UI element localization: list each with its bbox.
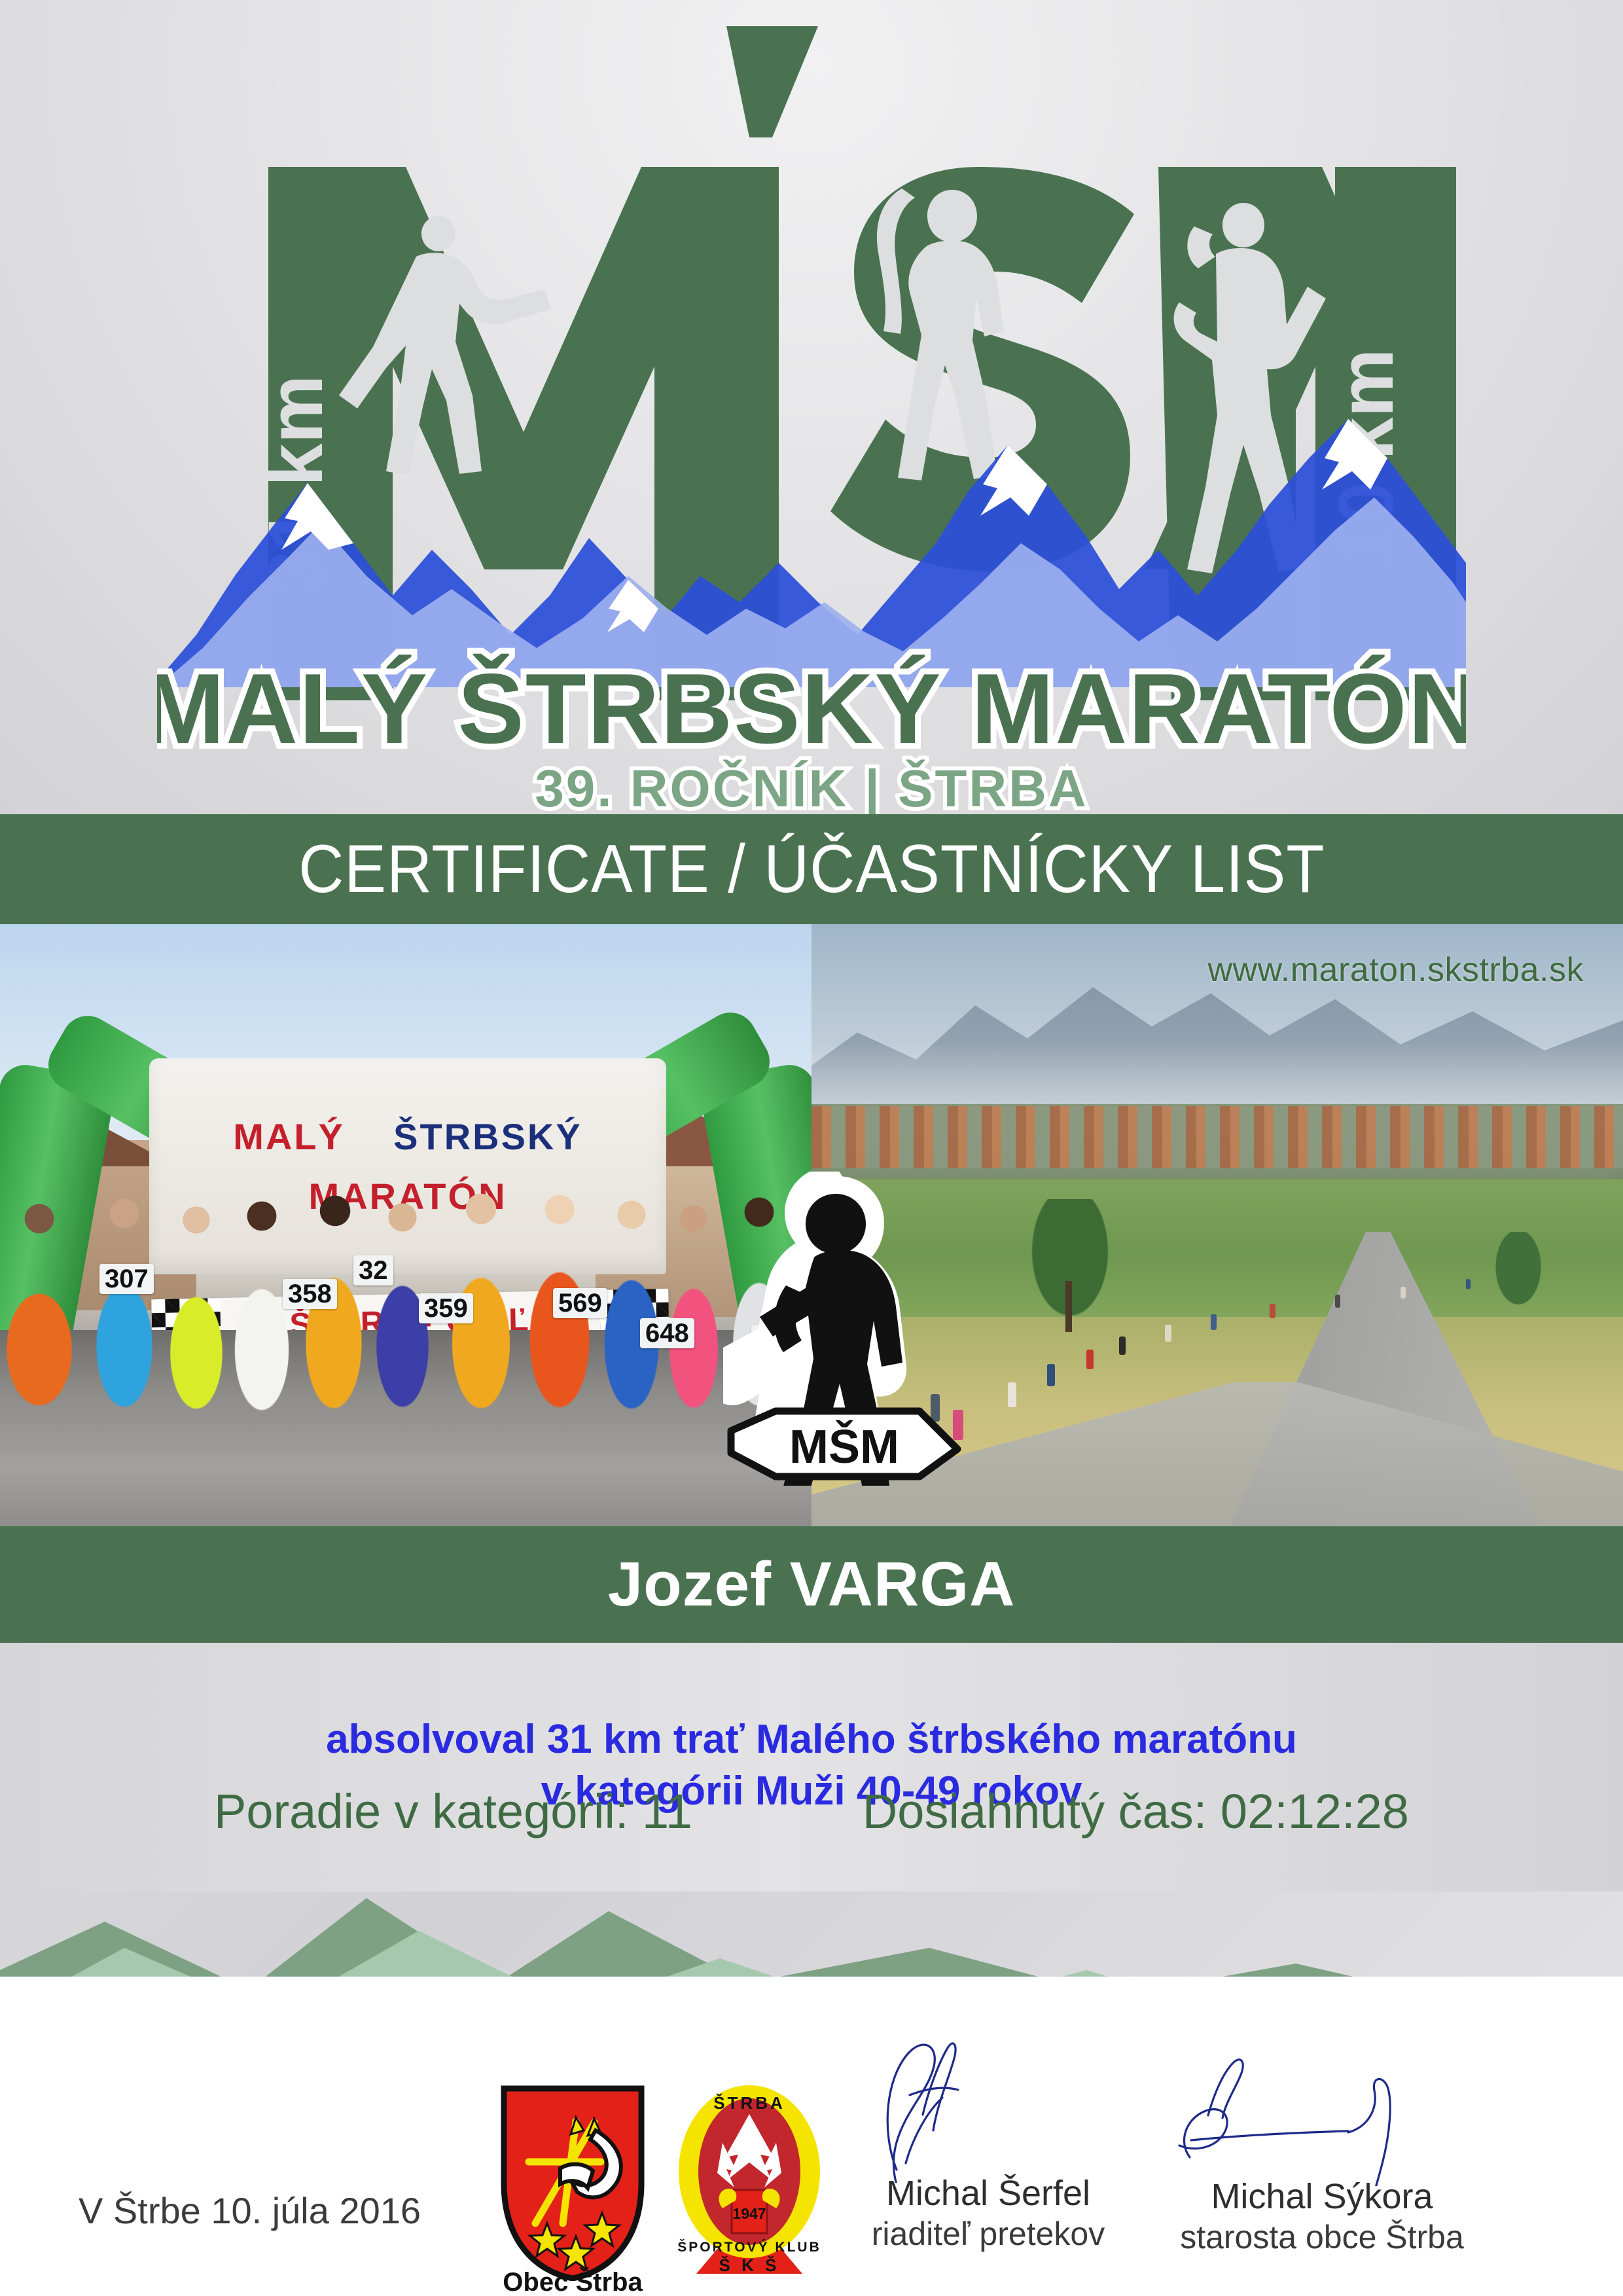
arch-word-maly: MALÝ — [233, 1116, 345, 1157]
bib-number: 307 — [99, 1264, 154, 1294]
description-line-1: absolvoval 31 km trať Malého štrbského m… — [326, 1713, 1297, 1765]
msm-logo-svg: 31 km 10 km — [157, 26, 1466, 814]
signature-name: Michal Sýkora — [1152, 2176, 1492, 2218]
website-url: www.maraton.skstrba.sk — [1208, 950, 1584, 990]
distant-runner — [1466, 1279, 1471, 1289]
signature-ink-sykora — [1152, 2036, 1492, 2186]
distant-runner — [1008, 1382, 1016, 1407]
photo-start-line: MALÝ ŠTRBSKÝ MARATÓN ŠTART - CIEĽ 307 35… — [0, 924, 811, 1526]
signature-block-director: Michal Šerfel riaditeľ pretekov — [818, 2173, 1158, 2253]
bib-number: 359 — [419, 1293, 473, 1323]
msm-runner-badge: MŠM — [723, 1172, 965, 1486]
runner-heads — [0, 1173, 811, 1251]
event-title: MALÝ ŠTRBSKÝ MARATÓN — [157, 653, 1466, 764]
certificate-page: 31 km 10 km — [0, 0, 1623, 2296]
signature-role: starosta obce Štrba — [1152, 2218, 1492, 2257]
badge-letters: MŠM — [789, 1420, 899, 1473]
distant-runner — [1211, 1314, 1217, 1330]
sks-bottom-text: Š K Š — [719, 2255, 780, 2275]
participant-name: Jozef VARGA — [608, 1549, 1016, 1621]
signature-block-mayor: Michal Sýkora starosta obce Štrba — [1152, 2176, 1492, 2257]
distant-runner — [1047, 1364, 1055, 1386]
finish-time: Dosiahnutý čas: 02:12:28 — [863, 1784, 1409, 1839]
signature-name: Michal Šerfel — [818, 2173, 1158, 2215]
event-subtitle: 39. ROČNÍK | ŠTRBA — [535, 759, 1088, 814]
distant-runner — [1270, 1304, 1275, 1318]
sks-club-crest: ŠTRBA 1947 ŠPORTOVÝ KLUB Š K Š — [674, 2080, 825, 2280]
certificate-title: CERTIFICATE / ÚČASTNÍCKY LIST — [298, 831, 1325, 908]
issue-date: V Štrbe 10. júla 2016 — [79, 2189, 421, 2232]
bib-number: 648 — [640, 1318, 694, 1348]
logo-caron — [726, 26, 818, 137]
village-roofs — [811, 1106, 1623, 1168]
details-section: absolvoval 31 km trať Malého štrbského m… — [0, 1643, 1623, 1892]
footer: V Štrbe 10. júla 2016 Obec Štrba — [0, 1990, 1623, 2296]
obec-strba-label: Obec Štrba — [497, 2268, 648, 2296]
sks-top-text: ŠTRBA — [713, 2093, 785, 2113]
category-rank: Poradie v kategórii: 11 — [214, 1784, 692, 1839]
sks-arc-text: ŠPORTOVÝ KLUB — [677, 2239, 821, 2255]
arch-word-strbsky: ŠTRBSKÝ — [393, 1116, 582, 1157]
distant-runner — [1400, 1287, 1406, 1299]
obec-strba-crest — [497, 2085, 648, 2281]
arch-banner-line1: MALÝ ŠTRBSKÝ — [233, 1115, 582, 1158]
msm-logo: 31 km 10 km — [0, 0, 1623, 814]
bib-number: 569 — [553, 1288, 607, 1318]
tree-trunk — [1065, 1281, 1072, 1332]
results-row: Poradie v kategórii: 11 Dosiahnutý čas: … — [0, 1784, 1623, 1839]
bib-number: 32 — [353, 1255, 393, 1285]
header-logo-area: 31 km 10 km — [0, 0, 1623, 814]
certificate-title-band: CERTIFICATE / ÚČASTNÍCKY LIST — [0, 814, 1623, 924]
distant-runner — [1165, 1325, 1171, 1342]
bib-number: 358 — [283, 1279, 337, 1309]
signature-ink-serfel — [818, 2032, 1158, 2183]
participant-name-band: Jozef VARGA — [0, 1526, 1623, 1643]
distant-runner — [1335, 1295, 1340, 1308]
signature-role: riaditeľ pretekov — [818, 2215, 1158, 2253]
tree-far — [1492, 1232, 1544, 1310]
distant-runner — [1119, 1336, 1126, 1355]
distant-runner — [1086, 1350, 1094, 1369]
sks-year: 1947 — [732, 2205, 766, 2222]
